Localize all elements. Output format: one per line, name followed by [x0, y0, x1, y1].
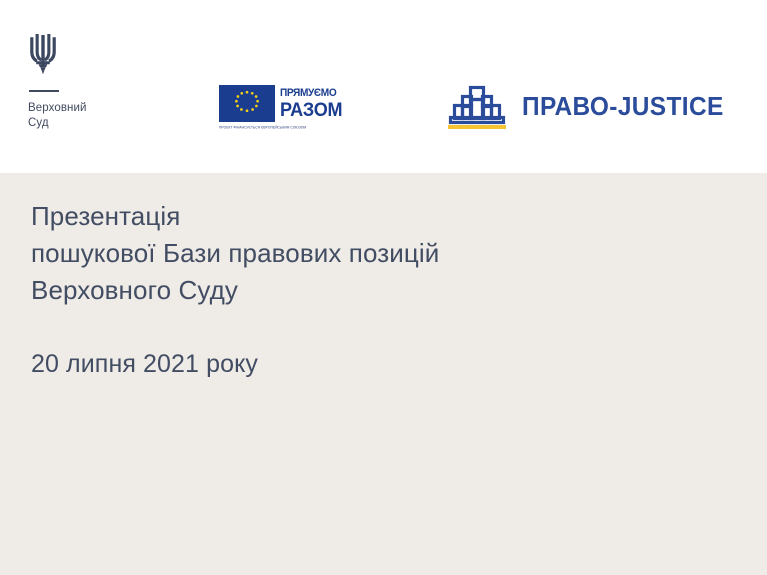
page-title: Презентація пошукової Бази правових пози… [31, 198, 691, 309]
eu-project-logo: ПРЯМУЄМО РАЗОМ ПРОЕКТ ФІНАНСУЄТЬСЯ ЄВРОП… [219, 85, 359, 129]
supreme-court-name: Верховний Суд [28, 101, 148, 131]
eu-wordmark: ПРЯМУЄМО РАЗОМ [280, 85, 345, 122]
eu-logo-row: ПРЯМУЄМО РАЗОМ [219, 85, 359, 122]
eu-wordmark-bottom: РАЗОМ [280, 101, 342, 120]
supreme-court-divider [29, 90, 59, 92]
eu-funding-disclaimer: ПРОЕКТ ФІНАНСУЄТЬСЯ ЄВРОПЕЙСЬКИМ СОЮЗОМ [219, 125, 359, 129]
supreme-court-logo: Верховний Суд [28, 33, 148, 131]
courthouse-columns-icon [440, 84, 514, 132]
pravo-justice-wordmark: ПРАВО-JUSTICE [522, 93, 724, 119]
european-union-flag-icon [219, 85, 275, 122]
slide-content: Презентація пошукової Бази правових пози… [31, 198, 691, 380]
presentation-title-slide: Верховний Суд [0, 0, 767, 575]
eu-wordmark-top: ПРЯМУЄМО [280, 88, 340, 99]
logo-band: Верховний Суд [0, 0, 767, 173]
pravo-justice-logo: ПРАВО-JUSTICE [440, 84, 737, 132]
ukraine-trident-icon [28, 33, 148, 75]
event-date: 20 липня 2021 року [31, 348, 691, 380]
